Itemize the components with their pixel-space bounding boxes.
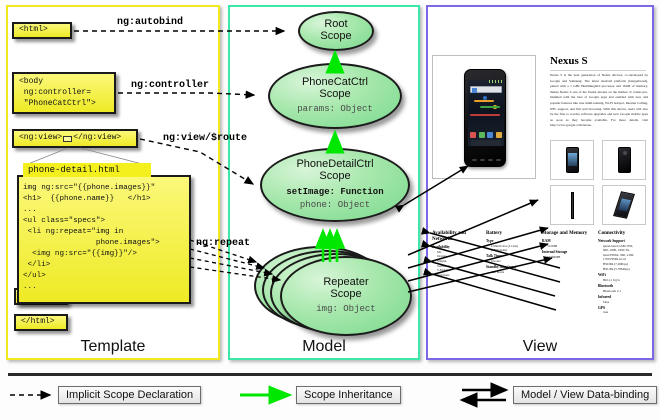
phone-front-icon <box>566 147 579 173</box>
phone-angle-icon <box>613 191 635 218</box>
phone-device-graphic <box>464 69 506 167</box>
scope-phonedetailctrl-prop-phone: phone: Object <box>300 200 370 211</box>
phone-button-back <box>472 159 477 161</box>
spec-value: Bluetooth 2.1 <box>598 289 648 294</box>
thumbnail-phone-side[interactable] <box>550 185 594 225</box>
code-box-body-open: <body ng:controller= "PhoneCatCtrl"> <box>12 72 116 114</box>
spec-header: Availability and Networks <box>432 231 480 244</box>
phone-detail-callout: phone-detail.html img ng:src="{{phone.im… <box>17 163 203 313</box>
spec-value: 16384MB <box>542 255 594 260</box>
spec-column-battery: Battery Type Lithium Ion (Li-Ion) (1500 … <box>486 231 536 275</box>
spec-value: 428 hours <box>486 270 536 275</box>
legend-label-implicit-scope: Implicit Scope Declaration <box>58 386 201 404</box>
phone-wallpaper-line-2 <box>480 106 500 108</box>
spec-value: HSUPA (5.76Mbps) <box>598 267 648 272</box>
spec-value: 6 hours <box>486 259 536 264</box>
spec-value: 512MB <box>542 244 594 249</box>
scope-repeater-prop-img: img: Object <box>316 304 375 315</box>
column-label-view: View <box>426 338 654 356</box>
spec-header: Storage and Memory <box>542 231 594 237</box>
phone-app-icon-3 <box>487 132 493 138</box>
scope-repeater-title: Repeater Scope <box>323 277 368 301</box>
phone-dock-tray <box>471 140 501 146</box>
ngview-slot-icon <box>63 136 72 142</box>
scope-phonedetailctrl-prop-setimage: setImage: Function <box>286 187 383 198</box>
angular-mvc-diagram: <html> <body ng:controller= "PhoneCatCtr… <box>0 0 660 420</box>
spec-value: Vodafone <box>432 273 480 278</box>
scope-phonecatctrl-prop-params: params: Object <box>297 104 373 115</box>
code-box-html-close: </html> <box>14 314 68 331</box>
code-box-ngview: <ng:view></ng:view> <box>12 129 138 148</box>
phone-app-icon-2 <box>479 132 485 138</box>
scope-phonedetailctrl: PhoneDetailCtrl Scope setImage: Function… <box>260 148 410 222</box>
label-ng-repeat: ng:repeat <box>196 238 250 249</box>
phone-statusbar-icon <box>489 80 503 83</box>
phone-app-icon-4 <box>496 132 502 138</box>
spec-header: Battery <box>486 231 536 237</box>
column-label-template: Template <box>6 338 220 356</box>
phone-app-icon-1 <box>470 132 476 138</box>
phone-search-widget-icon <box>470 86 502 93</box>
phone-soft-buttons <box>470 159 502 163</box>
scope-phonedetailctrl-title: PhoneDetailCtrl Scope <box>296 159 373 183</box>
phone-wallpaper-line-3 <box>470 114 500 116</box>
phone-side-icon <box>571 192 574 219</box>
phone-hero-image <box>432 55 536 179</box>
phone-wallpaper-line-1 <box>474 100 494 102</box>
scope-phonecatctrl-title: PhoneCatCtrl Scope <box>302 77 368 101</box>
scope-repeater-stack: Repeater Scope img: Object <box>254 240 414 336</box>
view-specs-table: Availability and Networks Availability M… <box>432 231 648 291</box>
view-screenshot: Nexus S Nexus S is the next generation o… <box>432 13 648 335</box>
spec-column-availability: Availability and Networks Availability M… <box>432 231 480 278</box>
callout-code: img ng:src="{{phone.images}}" <h1> {{pho… <box>17 175 191 304</box>
spec-value: true <box>598 310 648 315</box>
column-label-model: Model <box>228 338 420 356</box>
scope-phonecatctrl: PhoneCatCtrl Scope params: Object <box>268 63 402 129</box>
scope-root: Root Scope <box>298 11 374 51</box>
scope-repeater: Repeater Scope img: Object <box>280 256 412 336</box>
legend-divider <box>8 373 652 376</box>
label-ng-autobind: ng:autobind <box>117 17 183 28</box>
label-ng-controller: ng:controller <box>131 80 209 91</box>
legend-label-scope-inheritance: Scope Inheritance <box>296 386 401 404</box>
view-title-divider <box>550 70 646 71</box>
phone-button-search <box>488 159 493 161</box>
view-phone-name: Nexus S <box>550 55 588 67</box>
spec-column-connectivity: Connectivity Network Support Quad-band G… <box>598 231 648 315</box>
phone-button-home <box>496 159 501 161</box>
view-phone-description: Nexus S is the next generation of Nexus … <box>550 73 648 129</box>
spec-value: false <box>598 300 648 305</box>
phone-button-menu <box>480 159 485 161</box>
ngview-close-tag: </ng:view> <box>73 133 121 144</box>
spec-column-storage: Storage and Memory RAM 512MB Internal St… <box>542 231 594 259</box>
phone-back-icon <box>618 147 631 173</box>
spec-header: Connectivity <box>598 231 648 237</box>
spec-value: (1500 mAh) <box>486 248 536 253</box>
legend-label-data-binding: Model / View Data-binding <box>513 386 657 404</box>
phone-screen <box>468 80 504 146</box>
code-box-html-open: <html> <box>12 22 72 39</box>
scope-root-title: Root Scope <box>320 19 351 43</box>
phone-app-icons <box>470 132 502 138</box>
ngview-open-tag: <ng:view> <box>19 133 62 144</box>
label-ng-view-route: ng:view/$route <box>163 133 247 144</box>
thumbnail-phone-back[interactable] <box>602 140 646 180</box>
spec-value: 802.11 b/g/n <box>598 278 648 283</box>
thumbnail-phone-front[interactable] <box>550 140 594 180</box>
callout-filename: phone-detail.html <box>23 163 151 177</box>
thumbnail-phone-angle[interactable] <box>602 185 646 225</box>
